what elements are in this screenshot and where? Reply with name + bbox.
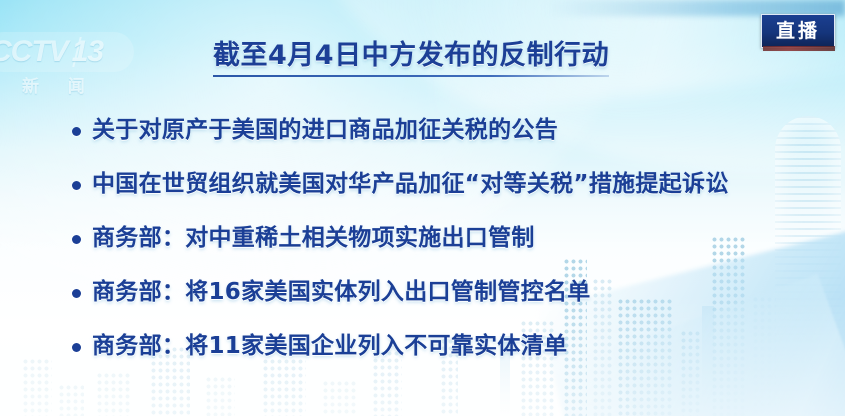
list-item: 商务部：对中重稀土相关物项实施出口管制 (72, 212, 832, 266)
bullet-dot-icon (72, 343, 81, 352)
bullet-dot-icon (72, 289, 81, 298)
list-item: 商务部：将11家美国企业列入不可靠实体清单 (72, 320, 832, 374)
list-item-label: 关于对原产于美国的进口商品加征关税的公告 (92, 118, 558, 143)
broadcast-lower-third-graphic: CCTV13 新 闻 直播 截至4月4日中方发布的反制行动 关于对原产于美国的进… (0, 0, 845, 416)
list-item: 商务部：将16家美国实体列入出口管制管控名单 (72, 266, 832, 320)
list-item-label: 商务部：将11家美国企业列入不可靠实体清单 (92, 334, 567, 359)
measures-list: 关于对原产于美国的进口商品加征关税的公告 中国在世贸组织就美国对华产品加征“对等… (72, 104, 832, 374)
bullet-dot-icon (72, 127, 81, 136)
bullet-dot-icon (72, 235, 81, 244)
logo-cctv-text: CCTV (0, 35, 68, 68)
list-item-label: 中国在世贸组织就美国对华产品加征“对等关税”措施提起诉讼 (92, 172, 729, 197)
live-badge: 直播 (761, 14, 835, 48)
list-item-label: 商务部：对中重稀土相关物项实施出口管制 (92, 226, 535, 251)
live-badge-underbar (763, 46, 835, 51)
logo-wordmark: CCTV13 (0, 34, 140, 70)
list-item: 关于对原产于美国的进口商品加征关税的公告 (72, 104, 832, 158)
logo-subtitle-news: 新 闻 (22, 72, 97, 97)
list-item: 中国在世贸组织就美国对华产品加征“对等关税”措施提起诉讼 (72, 158, 832, 212)
live-badge-label: 直播 (776, 22, 820, 41)
headline-block: 截至4月4日中方发布的反制行动 (213, 42, 609, 77)
headline-underline-rule (213, 75, 609, 77)
list-item-label: 商务部：将16家美国实体列入出口管制管控名单 (92, 280, 591, 305)
page-title: 截至4月4日中方发布的反制行动 (213, 42, 609, 69)
bullet-dot-icon (72, 181, 81, 190)
logo-channel-number: 13 (72, 35, 103, 68)
cctv13-channel-logo: CCTV13 新 闻 (0, 32, 134, 94)
